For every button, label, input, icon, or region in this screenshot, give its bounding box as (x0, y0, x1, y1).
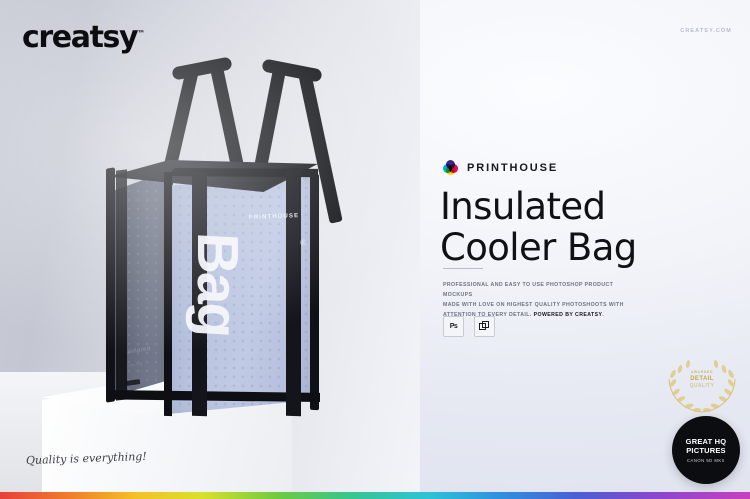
award-line-3: QUALITY (660, 383, 744, 390)
contact-shadow (95, 374, 310, 400)
website-url[interactable]: CREATSY.COM (680, 28, 732, 34)
hq-badge-line-2: PICTURES (686, 446, 726, 455)
smart-object-icon (479, 321, 490, 332)
headline-line-2: Cooler Bag (440, 227, 730, 268)
product-description: PROFESSIONAL AND EASY TO USE PHOTOSHOP P… (443, 280, 635, 321)
bag-handle-strap (150, 69, 199, 228)
hq-pictures-badge: GREAT HQ PICTURES CANON 5D MKII (672, 416, 740, 484)
bag-side-submark: cooler bag (124, 361, 143, 370)
creatsy-logo[interactable]: creatsy™ (22, 20, 145, 55)
bag-lid-edge (166, 168, 318, 182)
description-line-3-suffix: . (602, 312, 604, 318)
spectrum-strip (0, 492, 750, 499)
bag-handle-arc (261, 58, 322, 82)
bag-registered-mark: ® (300, 238, 306, 247)
description-line-3-bold: POWERED BY CREATSY (534, 312, 603, 318)
smart-object-badge[interactable] (474, 316, 495, 337)
cooler-bag: Insulated cooler bag PRINTHOUSE Bag ® (108, 48, 376, 440)
description-line-2: MADE WITH LOVE ON HIGHEST QUALITY PHOTOS… (443, 300, 635, 310)
mockup-poster: Insulated cooler bag PRINTHOUSE Bag ® cr… (0, 0, 750, 499)
bag-trim-bottom (108, 390, 320, 402)
bag-handle-strap (208, 59, 256, 228)
creatsy-logo-text: creatsy (22, 20, 137, 55)
bag-webbing-strap (192, 172, 207, 416)
bag-handle-strap (298, 72, 342, 223)
bag-handle-arc (171, 56, 232, 80)
brand-name: PRINTHOUSE (467, 162, 558, 174)
award-line-2: DETAIL (660, 375, 744, 383)
bag-handle-strap (242, 62, 287, 231)
photoshop-badge[interactable]: Ps (443, 316, 464, 337)
product-photo: Insulated cooler bag PRINTHOUSE Bag ® (0, 0, 420, 492)
pedestal-top (42, 370, 292, 414)
award-text: AWARDED DETAIL QUALITY (660, 370, 744, 389)
page-title: Insulated Cooler Bag (440, 186, 730, 269)
bag-webbing-strap (286, 168, 301, 416)
award-badge: AWARDED DETAIL QUALITY (660, 352, 744, 416)
description-line-1: PROFESSIONAL AND EASY TO USE PHOTOSHOP P… (443, 280, 635, 300)
headline-line-1: Insulated (440, 186, 730, 227)
bag-trim-left (106, 167, 115, 402)
bag-side-panel: Insulated cooler bag (108, 170, 170, 398)
bag-webbing-strap (116, 169, 127, 400)
bag-top-lid (108, 160, 318, 192)
bag-front-panel (168, 176, 316, 414)
brand-row: PRINTHOUSE (443, 160, 558, 175)
key-circle (446, 160, 455, 169)
divider (443, 268, 483, 269)
bag-side-mark: Insulated (122, 346, 151, 356)
format-badges: Ps (443, 316, 495, 337)
hq-badge-subtitle: CANON 5D MKII (687, 458, 725, 463)
award-line-1: AWARDED (660, 370, 744, 375)
trademark-symbol: ™ (137, 29, 145, 38)
bag-printed-brand: PRINTHOUSE (234, 213, 314, 222)
studio-floor (0, 372, 290, 492)
bag-side-tag (126, 379, 141, 386)
cmyk-circles-icon (443, 160, 458, 175)
hq-badge-line-1: GREAT HQ (686, 437, 727, 446)
bag-trim-corner (164, 172, 172, 416)
pedestal-front (42, 374, 292, 492)
photoshop-badge-label: Ps (450, 323, 458, 330)
bag-printed-word: Bag (188, 231, 246, 338)
bag-trim-right (310, 174, 319, 410)
